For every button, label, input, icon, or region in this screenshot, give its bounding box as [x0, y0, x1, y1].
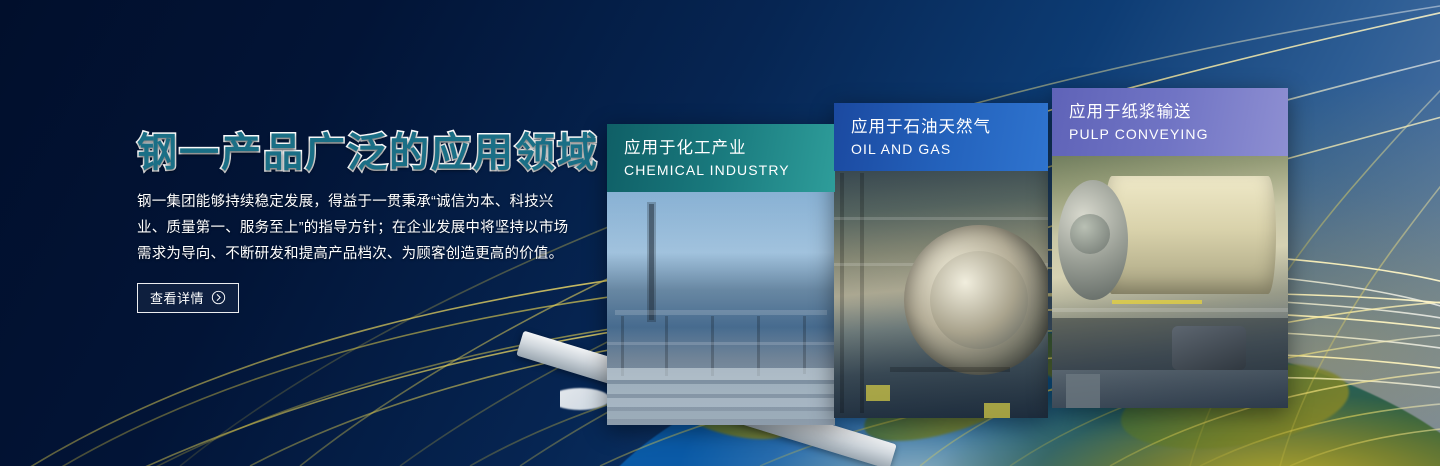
- card-caption: 应用于石油天然气 OIL AND GAS: [834, 103, 1048, 171]
- view-details-button[interactable]: 查看详情: [137, 283, 239, 313]
- application-card-pulp-conveying[interactable]: 应用于纸浆输送 PULP CONVEYING: [1052, 88, 1288, 408]
- card-title-zh: 应用于化工产业: [624, 137, 835, 159]
- card-caption: 应用于纸浆输送 PULP CONVEYING: [1052, 88, 1288, 156]
- card-caption: 应用于化工产业 CHEMICAL INDUSTRY: [607, 124, 835, 192]
- application-card-chemical-industry[interactable]: 应用于化工产业 CHEMICAL INDUSTRY: [607, 124, 835, 425]
- oil-gas-photo: [834, 167, 1048, 418]
- oil-gas-texture: [834, 167, 1048, 418]
- hero-banner: 钢一产品广泛的应用领域 钢一集团能够持续稳定发展，得益于一贯秉承“诚信为本、科技…: [0, 0, 1440, 466]
- chemical-plant-texture: [607, 192, 835, 425]
- card-title-en: PULP CONVEYING: [1069, 124, 1288, 144]
- view-details-label: 查看详情: [150, 288, 204, 307]
- page-title: 钢一产品广泛的应用领域: [137, 133, 597, 173]
- chevron-right-circle-icon: [211, 290, 226, 305]
- chemical-plant-photo: [607, 192, 835, 425]
- card-title-en: OIL AND GAS: [851, 139, 1048, 159]
- application-card-oil-and-gas[interactable]: 应用于石油天然气 OIL AND GAS: [834, 103, 1048, 418]
- pulp-conveying-texture: [1052, 150, 1288, 408]
- card-title-en: CHEMICAL INDUSTRY: [624, 160, 835, 180]
- card-title-zh: 应用于纸浆输送: [1069, 101, 1288, 123]
- hero-description: 钢一集团能够持续稳定发展，得益于一贯秉承“诚信为本、科技兴业、质量第一、服务至上…: [137, 189, 583, 267]
- pulp-conveying-photo: [1052, 150, 1288, 408]
- card-title-zh: 应用于石油天然气: [851, 116, 1048, 138]
- hero-text-column: 钢一产品广泛的应用领域 钢一集团能够持续稳定发展，得益于一贯秉承“诚信为本、科技…: [137, 133, 597, 313]
